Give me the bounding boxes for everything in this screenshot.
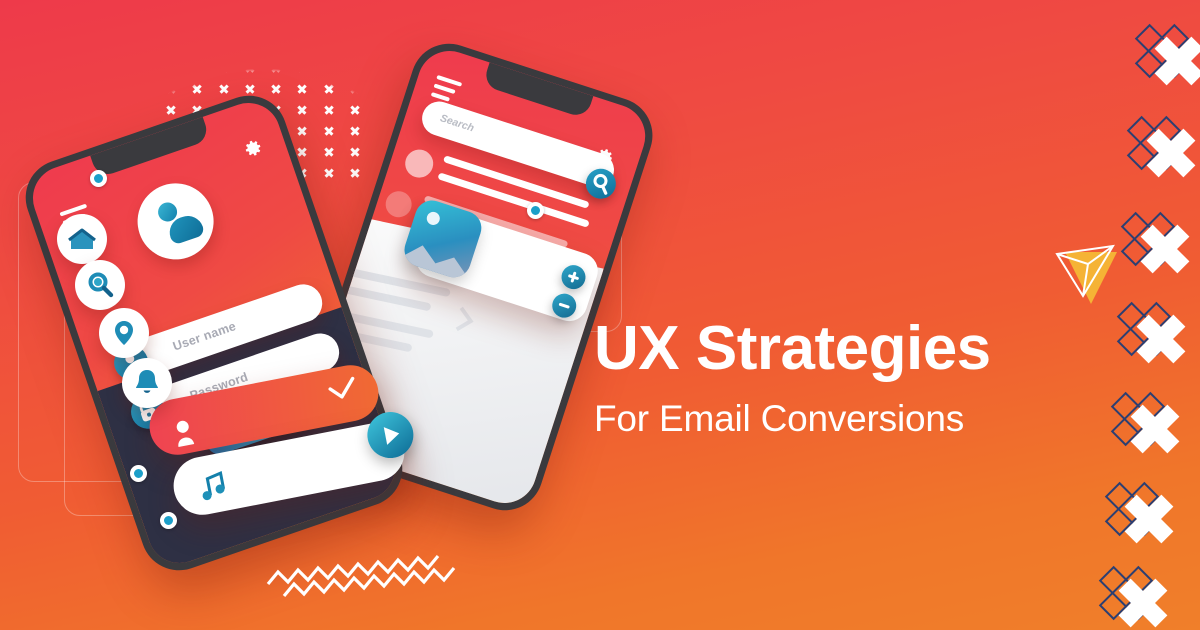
bell-icon: [122, 358, 172, 408]
anchor-dot: [90, 170, 107, 187]
sidebar-item-search[interactable]: [75, 260, 125, 310]
sidebar-item-home[interactable]: [57, 214, 107, 264]
zigzag-lines: [262, 486, 462, 598]
search-placeholder: Search: [439, 112, 476, 134]
plus-icon[interactable]: [558, 262, 588, 292]
location-pin-icon: [99, 308, 149, 358]
magnifier-icon[interactable]: [582, 165, 620, 203]
page-title: UX Strategies: [594, 318, 1134, 380]
notch: [90, 117, 210, 178]
home-icon: [57, 214, 107, 264]
cross-pattern: [1104, 0, 1200, 630]
poster-canvas: Search: [0, 0, 1200, 630]
sidebar-item-notifications[interactable]: [122, 358, 172, 408]
minus-icon[interactable]: [549, 291, 579, 321]
headline-block: UX Strategies For Email Conversions: [594, 318, 1134, 437]
gear-icon[interactable]: [240, 136, 265, 161]
sidebar-item-location[interactable]: [99, 308, 149, 358]
person-icon: [169, 417, 200, 451]
notch: [482, 62, 593, 118]
anchor-dot: [527, 202, 544, 219]
music-note-icon: [193, 468, 233, 508]
avatar-placeholder: [402, 146, 437, 181]
anchor-dot: [160, 512, 177, 529]
chevron-right-icon: [445, 298, 492, 345]
check-icon[interactable]: [323, 374, 362, 408]
avatar-placeholder-2: [382, 188, 415, 221]
search-icon: [75, 260, 125, 310]
page-subtitle: For Email Conversions: [594, 400, 1134, 437]
user-avatar-icon: [127, 173, 224, 270]
anchor-dot: [130, 465, 147, 482]
